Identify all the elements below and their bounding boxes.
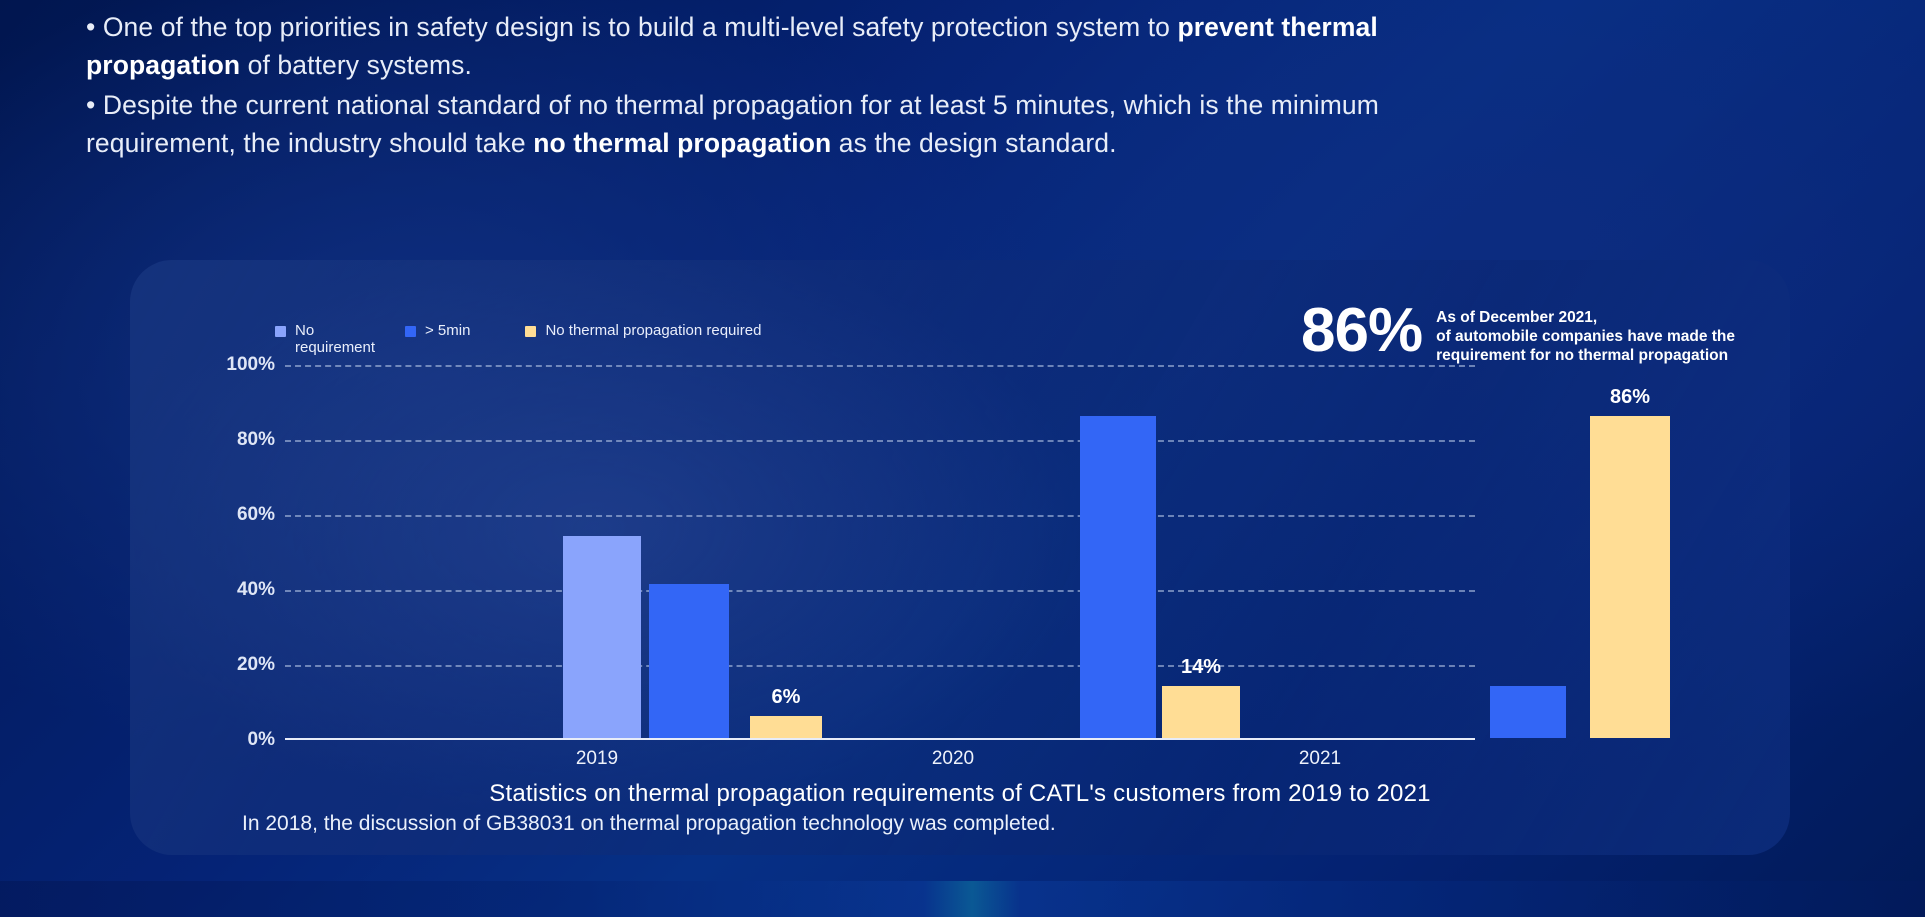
bar-value-label: 86% [1610, 386, 1650, 409]
footnote-text: In 2018, the discussion of GB38031 on th… [242, 812, 1056, 836]
callout-line-1: As of December 2021, [1436, 308, 1735, 327]
callout-line-3: requirement for no thermal propagation [1436, 346, 1735, 365]
callout-description: As of December 2021, of automobile compa… [1436, 300, 1735, 365]
intro-bullet-1: • One of the top priorities in safety de… [86, 8, 1386, 84]
y-axis-labels: 100% 80% 60% 40% 20% 0% [155, 365, 275, 740]
legend-swatch-icon [405, 326, 416, 337]
intro-bullet-2-post: as the design standard. [831, 128, 1116, 158]
intro-bullet-2: • Despite the current national standard … [86, 86, 1386, 162]
bar-2019-no-requirement[interactable] [563, 536, 641, 739]
bar-chart-plot: 100% 80% 60% 40% 20% 0% 6% 14% [285, 365, 1475, 740]
x-axis-line [285, 738, 1475, 740]
bars-layer: 6% 14% 86% [285, 363, 1475, 738]
intro-bullet-1-pre: • One of the top priorities in safety de… [86, 12, 1177, 42]
callout-86-percent: 86% As of December 2021, of automobile c… [1301, 300, 1735, 365]
legend-label-no-requirement: No requirement [295, 322, 353, 356]
bar-2020-gt-5min[interactable] [1080, 416, 1156, 739]
bar-value-label: 14% [1181, 656, 1221, 679]
intro-bullet-2-bold: no thermal propagation [533, 128, 831, 158]
bar-2019-gt-5min[interactable] [649, 584, 729, 738]
chart-card: No requirement > 5min No thermal propaga… [130, 260, 1790, 855]
intro-bullet-1-post: of battery systems. [240, 50, 472, 80]
bar-value-label: 6% [772, 686, 801, 709]
legend-item-gt-5min[interactable]: > 5min [405, 322, 470, 339]
y-tick-label: 100% [155, 354, 275, 376]
chart-title: Statistics on thermal propagation requir… [130, 780, 1790, 808]
y-tick-label: 40% [155, 579, 275, 601]
callout-value: 86% [1301, 300, 1422, 362]
y-tick-label: 60% [155, 504, 275, 526]
y-tick-label: 0% [155, 729, 275, 751]
intro-text: • One of the top priorities in safety de… [86, 8, 1386, 164]
y-tick-label: 80% [155, 429, 275, 451]
x-tick-label-2019: 2019 [576, 748, 618, 770]
y-tick-label: 20% [155, 654, 275, 676]
callout-line-2: of automobile companies have made the [1436, 327, 1735, 346]
bar-2020-no-thermal[interactable]: 14% [1162, 686, 1240, 739]
legend-swatch-icon [525, 326, 536, 337]
bar-2021-gt-5min[interactable] [1490, 686, 1566, 739]
x-tick-label-2020: 2020 [932, 748, 974, 770]
bar-2021-no-thermal[interactable]: 86% [1590, 416, 1670, 739]
bar-2019-no-thermal[interactable]: 6% [750, 716, 822, 739]
x-tick-label-2021: 2021 [1299, 748, 1341, 770]
legend-item-no-requirement[interactable]: No requirement [275, 322, 353, 356]
chart-legend: No requirement > 5min No thermal propaga… [275, 322, 761, 356]
legend-swatch-icon [275, 326, 286, 337]
legend-label-no-thermal: No thermal propagation required [545, 322, 761, 339]
legend-label-gt-5min: > 5min [425, 322, 470, 339]
legend-item-no-thermal[interactable]: No thermal propagation required [525, 322, 761, 339]
